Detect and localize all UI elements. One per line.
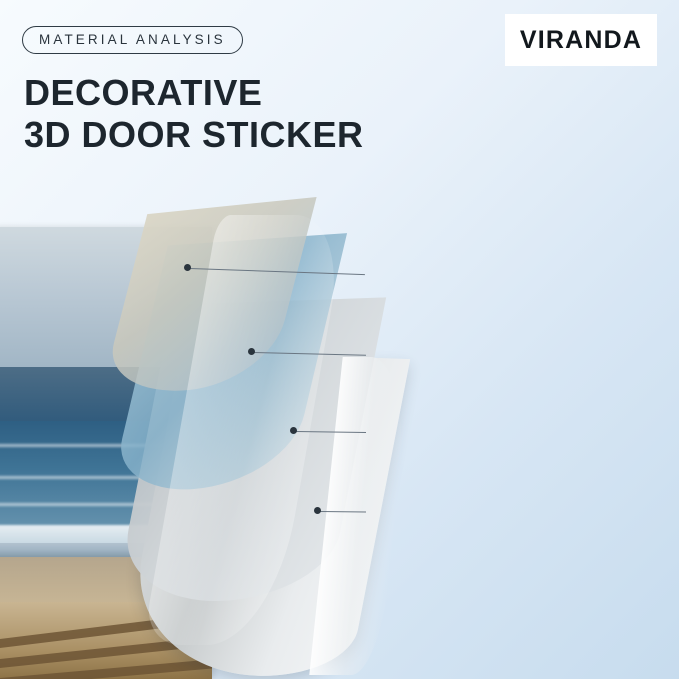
page-title-line-1: DECORATIVE bbox=[24, 72, 364, 114]
peeled-corner bbox=[140, 205, 420, 679]
page-title-line-2: 3D DOOR STICKER bbox=[24, 114, 364, 156]
page-title: DECORATIVE 3D DOOR STICKER bbox=[24, 72, 364, 157]
callout-dot-3 bbox=[290, 427, 297, 434]
product-artwork bbox=[0, 205, 420, 679]
material-analysis-infographic: MATERIAL ANALYSIS DECORATIVE 3D DOOR STI… bbox=[0, 0, 679, 679]
callout-dot-4 bbox=[314, 507, 321, 514]
callout-dot-2 bbox=[248, 348, 255, 355]
brand-name: VIRANDA bbox=[520, 26, 642, 55]
brand-logo-box: VIRANDA bbox=[505, 14, 657, 66]
callout-dot-1 bbox=[184, 264, 191, 271]
eyebrow-badge: MATERIAL ANALYSIS bbox=[22, 26, 243, 54]
